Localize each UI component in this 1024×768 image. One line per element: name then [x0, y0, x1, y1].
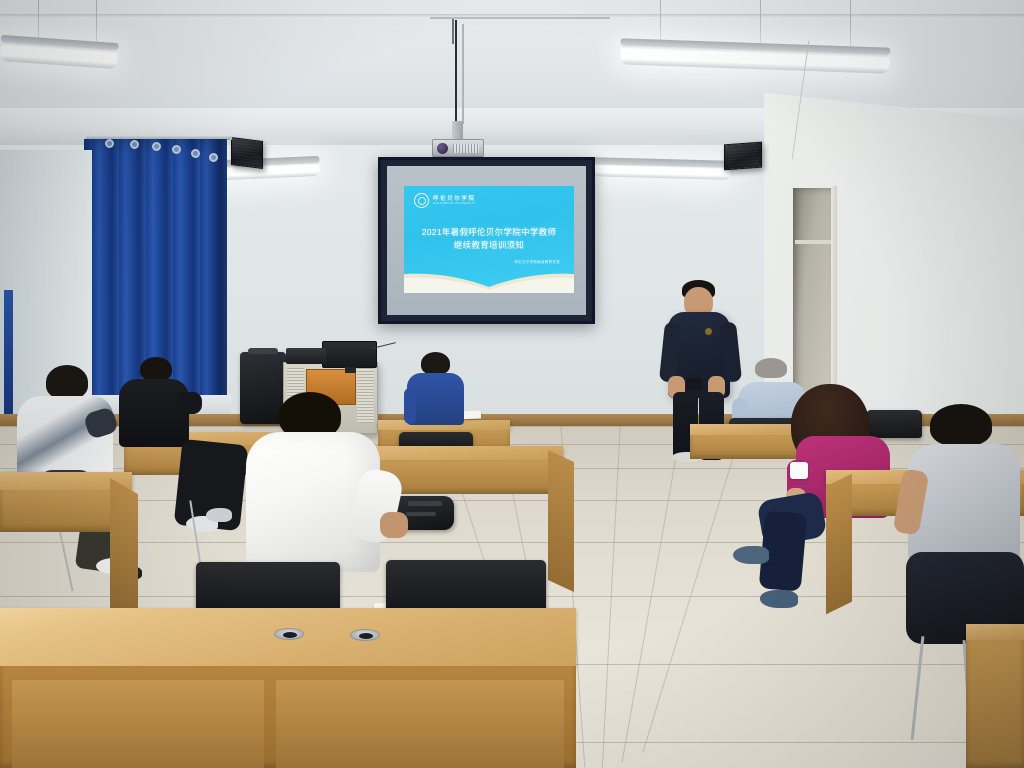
- light-wire: [38, 0, 39, 38]
- desk-right-foreground: [966, 624, 1024, 768]
- screen-surface: 呼伦贝尔学院 HULUNBUIR UNIVERSITY 2021年暑假呼伦贝尔学…: [387, 166, 586, 315]
- light-wire: [850, 0, 851, 52]
- projector-power-cable: [455, 20, 457, 124]
- presentation-slide: 呼伦贝尔学院 HULUNBUIR UNIVERSITY 2021年暑假呼伦贝尔学…: [404, 186, 574, 293]
- hand: [380, 512, 408, 538]
- tissue: [790, 462, 808, 479]
- light-wire: [760, 0, 761, 48]
- podium-monitor: [322, 341, 377, 368]
- projector-mount: [452, 121, 463, 141]
- desk-left-foreground: [0, 472, 132, 622]
- curtain-ring: [172, 145, 181, 154]
- open-book-graphic: [404, 267, 574, 293]
- shoe: [760, 590, 798, 608]
- cable-grommet: [274, 628, 304, 640]
- slide-title-line2: 继续教育培训须知: [404, 239, 574, 252]
- door-shelf: [795, 240, 831, 244]
- lectern-vent: [357, 368, 374, 423]
- wall-speaker-left: [231, 137, 263, 169]
- projector-vent: [453, 144, 479, 153]
- slide-title-line1: 2021年暑假呼伦贝尔学院中学教师: [404, 226, 574, 239]
- cable-grommet: [350, 629, 380, 641]
- wall-speaker-right: [724, 142, 762, 171]
- curtain-ring: [209, 153, 218, 162]
- slide-title: 2021年暑假呼伦贝尔学院中学教师 继续教育培训须知: [404, 226, 574, 252]
- podium-equipment: [286, 348, 326, 364]
- curtain-ring: [130, 140, 139, 149]
- curtain-ring: [191, 149, 200, 158]
- ceiling-cable: [452, 18, 454, 44]
- desk-right-back: [690, 424, 800, 484]
- projection-screen: 呼伦贝尔学院 HULUNBUIR UNIVERSITY 2021年暑假呼伦贝尔学…: [378, 157, 595, 324]
- projector: [432, 139, 484, 157]
- curtain-far-left: [4, 290, 13, 420]
- held-device: [686, 378, 702, 390]
- shoe: [733, 546, 769, 564]
- slide-subtitle: 呼伦贝尔学院继续教育学院: [515, 259, 561, 264]
- curtain-ring: [105, 139, 114, 148]
- ceiling-conduit: [430, 17, 610, 19]
- logo-emblem-icon: [414, 193, 429, 208]
- light-wire: [660, 0, 661, 42]
- projector-signal-cable: [462, 24, 464, 124]
- shoe: [206, 508, 232, 522]
- university-logo: 呼伦贝尔学院 HULUNBUIR UNIVERSITY: [414, 193, 476, 208]
- logo-text-en: HULUNBUIR UNIVERSITY: [433, 202, 476, 205]
- curtain-ring: [152, 142, 161, 151]
- classroom-scene: 呼伦贝尔学院 HULUNBUIR UNIVERSITY 2021年暑假呼伦贝尔学…: [0, 0, 1024, 768]
- projector-lens: [437, 143, 448, 154]
- shirt-emblem: [705, 328, 712, 335]
